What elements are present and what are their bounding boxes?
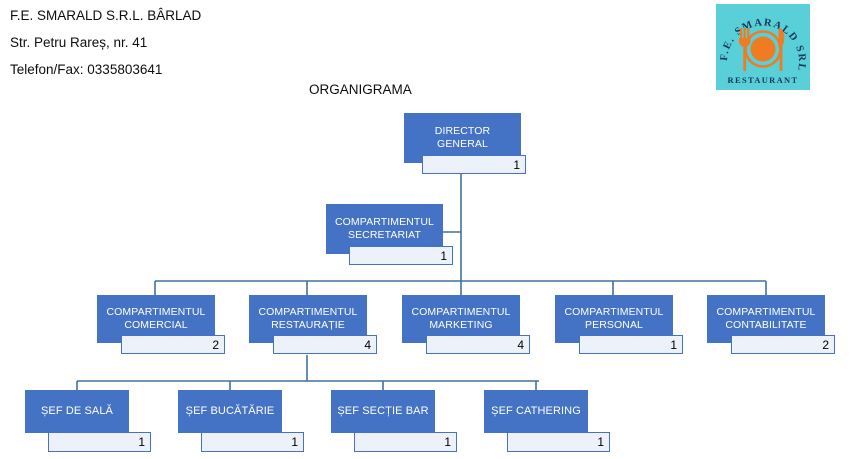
org-node-label-line2: GENERAL (437, 138, 488, 150)
org-node-count: 1 (507, 432, 610, 452)
org-node-label-line1: COMPARTIMENTUL (258, 306, 357, 318)
org-node-count: 2 (731, 335, 835, 354)
org-node-label-line1: COMPARTIMENTUL (716, 306, 815, 318)
org-node-label-line2: SECRETARIAT (348, 229, 421, 241)
org-node-label-line1: ȘEF CATHERING (491, 405, 581, 418)
org-node-label-line1: ȘEF BUCĂTĂRIE (186, 405, 275, 418)
org-node-label-line1: COMPARTIMENTUL (411, 306, 510, 318)
org-node-count: 1 (354, 432, 457, 452)
org-node-label-line1: ȘEF SECȚIE BAR (337, 405, 428, 418)
org-node-count: 1 (201, 432, 304, 452)
org-node-count: 1 (349, 246, 453, 265)
org-node-label-line1: ȘEF DE SALĂ (41, 405, 113, 418)
org-node-count: 1 (48, 432, 151, 452)
org-node-label-line2: RESTAURAȚIE (271, 319, 345, 331)
org-node-count: 4 (273, 335, 377, 354)
org-node-box[interactable]: ȘEF CATHERING (484, 390, 588, 433)
org-chart: DIRECTOR GENERAL 1 COMPARTIMENTUL SECRET… (0, 0, 852, 459)
org-node-label-line1: COMPARTIMENTUL (106, 306, 205, 318)
org-node-label-line2: CONTABILITATE (725, 319, 806, 331)
org-node-count: 2 (121, 335, 225, 354)
org-node-label-line1: DIRECTOR (435, 125, 490, 137)
org-node-label-line1: COMPARTIMENTUL (564, 306, 663, 318)
org-node-box[interactable]: ȘEF BUCĂTĂRIE (178, 390, 282, 433)
org-node-count: 1 (422, 155, 526, 174)
org-node-label-line1: COMPARTIMENTUL (335, 216, 434, 228)
org-node-label-line2: MARKETING (429, 319, 492, 331)
org-node-box[interactable]: ȘEF DE SALĂ (25, 390, 129, 433)
org-node-label-line2: PERSONAL (585, 319, 643, 331)
org-node-box[interactable]: ȘEF SECȚIE BAR (331, 390, 435, 433)
org-node-count: 4 (426, 335, 530, 354)
org-node-count: 1 (579, 335, 683, 354)
org-node-label-line2: COMERCIAL (124, 319, 187, 331)
